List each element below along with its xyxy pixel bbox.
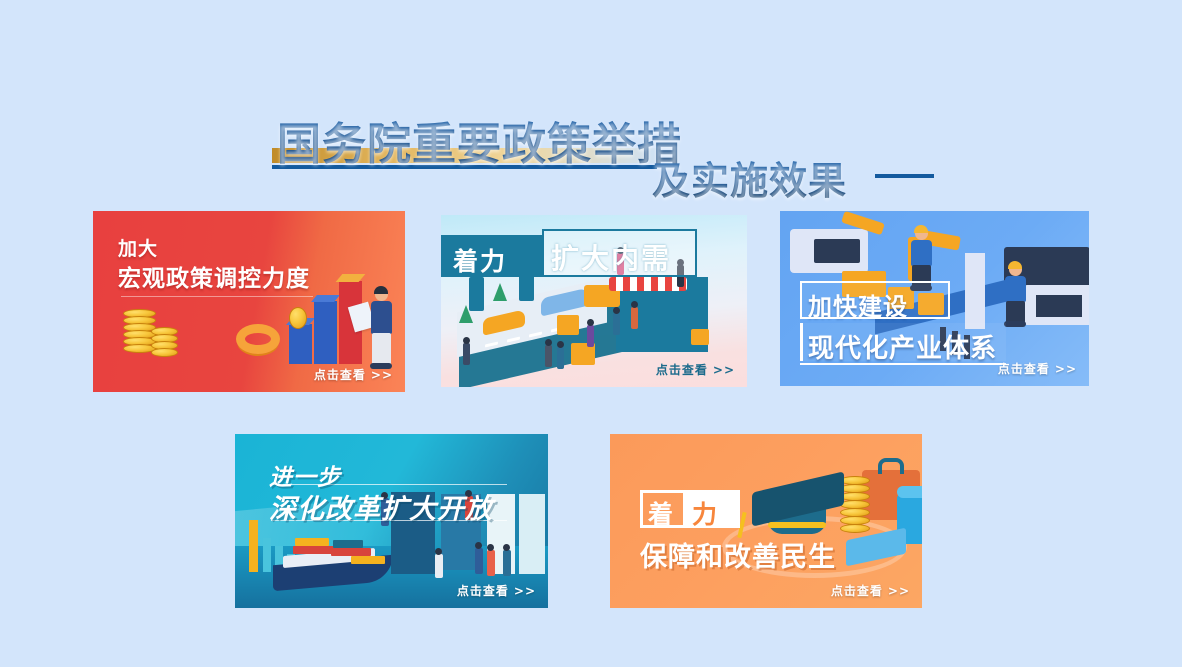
card-macro-policy[interactable]: 加大 宏观政策调控力度 点击查看>> <box>93 211 405 392</box>
card5-title-badge-b: 力 <box>692 495 717 531</box>
card1-cta[interactable]: 点击查看>> <box>314 366 393 383</box>
card4-cta-arrow-icon: >> <box>514 584 536 598</box>
coin-stack-icon <box>840 476 870 538</box>
card2-title-badge: 着力 <box>453 242 507 278</box>
card2-cta-label: 点击查看 <box>656 363 708 377</box>
card-domestic-demand[interactable]: 着力 扩大内需 点击查看>> <box>441 215 747 387</box>
card1-cta-arrow-icon: >> <box>371 368 393 382</box>
page-header: 国务院重要政策举措 及实施效果 <box>0 52 1182 157</box>
card5-cta-arrow-icon: >> <box>888 584 910 598</box>
card3-title-underline <box>800 363 1006 365</box>
factory-pillar <box>965 253 985 329</box>
card2-cta-arrow-icon: >> <box>713 363 735 377</box>
card1-divider <box>121 296 313 297</box>
page-title: 国务院重要政策举措 <box>277 108 682 172</box>
card-reform-opening[interactable]: 进一步 深化改革扩大开放 点击查看>> <box>235 434 548 608</box>
briefcase-handle <box>878 458 904 474</box>
card2-title-main: 扩大内需 <box>551 237 671 277</box>
gold-ring-icon <box>236 324 280 354</box>
card3-title-box-1 <box>800 281 950 319</box>
card-livelihood[interactable]: 着 力 保障和改善民生 点击查看>> <box>610 434 922 608</box>
page-subtitle: 及实施效果 <box>652 150 847 205</box>
card1-title-line2: 宏观政策调控力度 <box>118 259 310 293</box>
card2-cta[interactable]: 点击查看>> <box>656 361 735 378</box>
graduation-cap-band <box>768 522 826 528</box>
bar-chart-column-1 <box>289 324 312 364</box>
card4-cta-label: 点击查看 <box>457 584 509 598</box>
card1-title-line1: 加大 <box>118 234 158 261</box>
card3-title-box-2 <box>800 323 1006 361</box>
card-modern-industry[interactable]: 加快建设 现代化产业体系 点击查看>> <box>780 211 1089 386</box>
single-coin-icon <box>289 307 307 329</box>
worker-figure-2 <box>1002 263 1028 327</box>
card1-cta-label: 点击查看 <box>314 368 366 382</box>
card5-cta-label: 点击查看 <box>831 584 883 598</box>
card4-title-line2: 深化改革扩大开放 <box>269 487 493 526</box>
title-right-dash <box>875 174 934 178</box>
card3-cta[interactable]: 点击查看>> <box>998 360 1077 377</box>
growth-bar-yellow <box>249 520 258 572</box>
card5-title-badge-a: 着 <box>648 495 673 531</box>
page-root: 国务院重要政策举措 及实施效果 加大 宏观政策调控力度 点击查看>> <box>0 0 1182 667</box>
card5-cta[interactable]: 点击查看>> <box>831 582 910 599</box>
card5-title-line2: 保障和改善民生 <box>640 535 836 574</box>
shop-awning <box>609 277 687 291</box>
bar-chart-column-2 <box>314 301 337 364</box>
card3-cta-label: 点击查看 <box>998 362 1050 376</box>
card3-cta-arrow-icon: >> <box>1055 362 1077 376</box>
coin-stack-short-icon <box>151 327 178 357</box>
medicine-jar-lid <box>897 486 922 498</box>
card4-cta[interactable]: 点击查看>> <box>457 582 536 599</box>
businessman-figure <box>365 288 397 370</box>
